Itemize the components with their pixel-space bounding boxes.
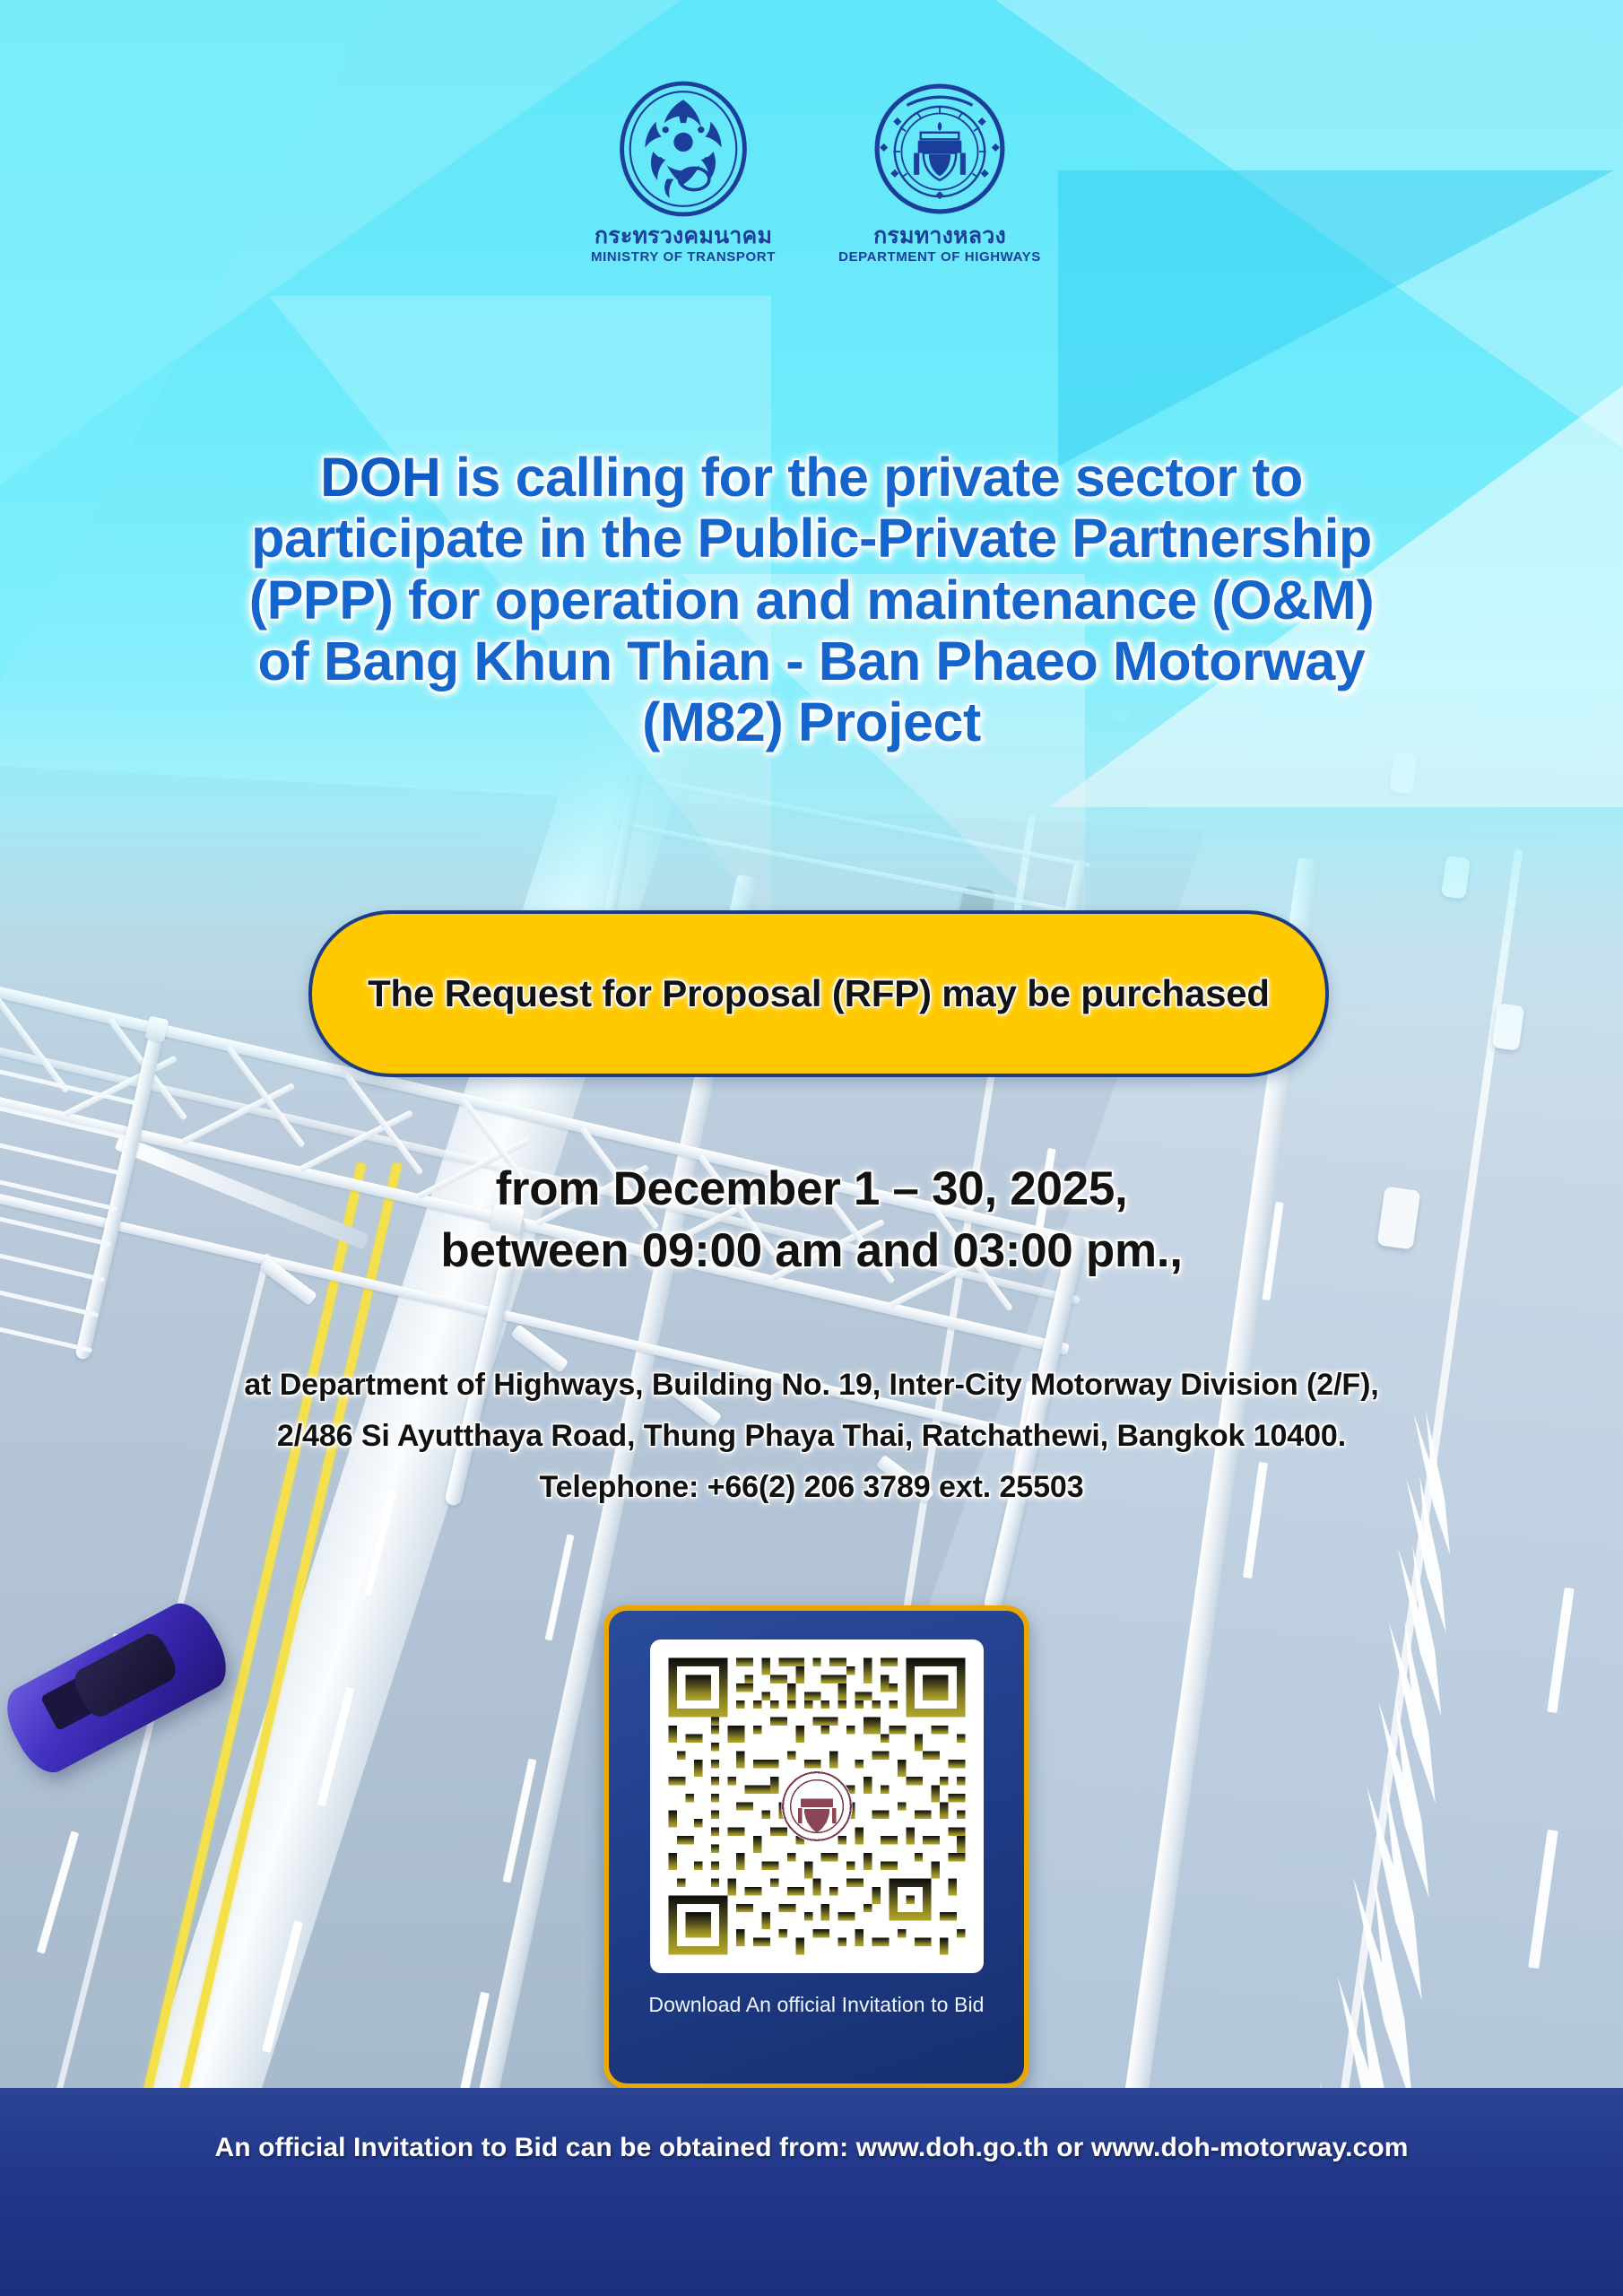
- headline-line-4: of Bang Khun Thian - Ban Phaeo Motorway: [81, 631, 1542, 691]
- logo-label-english: DEPARTMENT OF HIGHWAYS: [838, 250, 1041, 264]
- purchase-location: at Department of Highways, Building No. …: [0, 1360, 1623, 1512]
- department-of-highways-seal-icon: [872, 81, 1008, 217]
- purchase-period-hours: between 09:00 am and 03:00 pm.,: [0, 1221, 1623, 1283]
- qr-code-caption: Download An official Invitation to Bid: [648, 1993, 984, 2017]
- telephone-line: Telephone: +66(2) 206 3789 ext. 25503: [0, 1462, 1623, 1513]
- qr-center-logo: [781, 1770, 852, 1841]
- footer-bar: An official Invitation to Bid can be obt…: [0, 2088, 1623, 2296]
- poster-content: กระทรวงคมนาคม MINISTRY OF TRANSPORT: [0, 0, 1623, 2296]
- headline-line-2: participate in the Public-Private Partne…: [81, 508, 1542, 569]
- purchase-period: from December 1 – 30, 2025, between 09:0…: [0, 1159, 1623, 1283]
- address-line-1: at Department of Highways, Building No. …: [0, 1360, 1623, 1411]
- address-line-2: 2/486 Si Ayutthaya Road, Thung Phaya Tha…: [0, 1411, 1623, 1462]
- qr-code-panel[interactable]: Download An official Invitation to Bid: [603, 1605, 1029, 2089]
- logo-label-thai: กระทรวงคมนาคม: [595, 225, 772, 248]
- qr-code-image: [660, 1649, 974, 1963]
- logo-label-thai: กรมทางหลวง: [873, 225, 1006, 248]
- poster-root: กระทรวงคมนาคม MINISTRY OF TRANSPORT: [0, 0, 1623, 2296]
- qr-code[interactable]: [650, 1639, 984, 1973]
- headline-line-3: (PPP) for operation and maintenance (O&M…: [81, 570, 1542, 631]
- headline-line-1-rest: is calling for the private sector to: [440, 447, 1302, 508]
- rfp-purchase-banner[interactable]: The Request for Proposal (RFP) may be pu…: [308, 910, 1329, 1077]
- headline: DOH is calling for the private sector to…: [81, 447, 1542, 753]
- logo-label-english: MINISTRY OF TRANSPORT: [591, 250, 776, 264]
- headline-brand: DOH: [320, 447, 440, 508]
- logo-ministry-of-transport: กระทรวงคมนาคม MINISTRY OF TRANSPORT: [580, 81, 786, 264]
- logo-department-of-highways: กรมทางหลวง DEPARTMENT OF HIGHWAYS: [837, 81, 1043, 264]
- purchase-period-dates: from December 1 – 30, 2025,: [0, 1159, 1623, 1221]
- headline-line-1: DOH is calling for the private sector to: [81, 447, 1542, 508]
- rfp-purchase-banner-label: The Request for Proposal (RFP) may be pu…: [368, 972, 1270, 1015]
- footer-text: An official Invitation to Bid can be obt…: [214, 2133, 1408, 2163]
- agency-logos: กระทรวงคมนาคม MINISTRY OF TRANSPORT: [0, 81, 1623, 264]
- headline-line-5: (M82) Project: [81, 691, 1542, 752]
- ministry-of-transport-seal-icon: [615, 81, 751, 217]
